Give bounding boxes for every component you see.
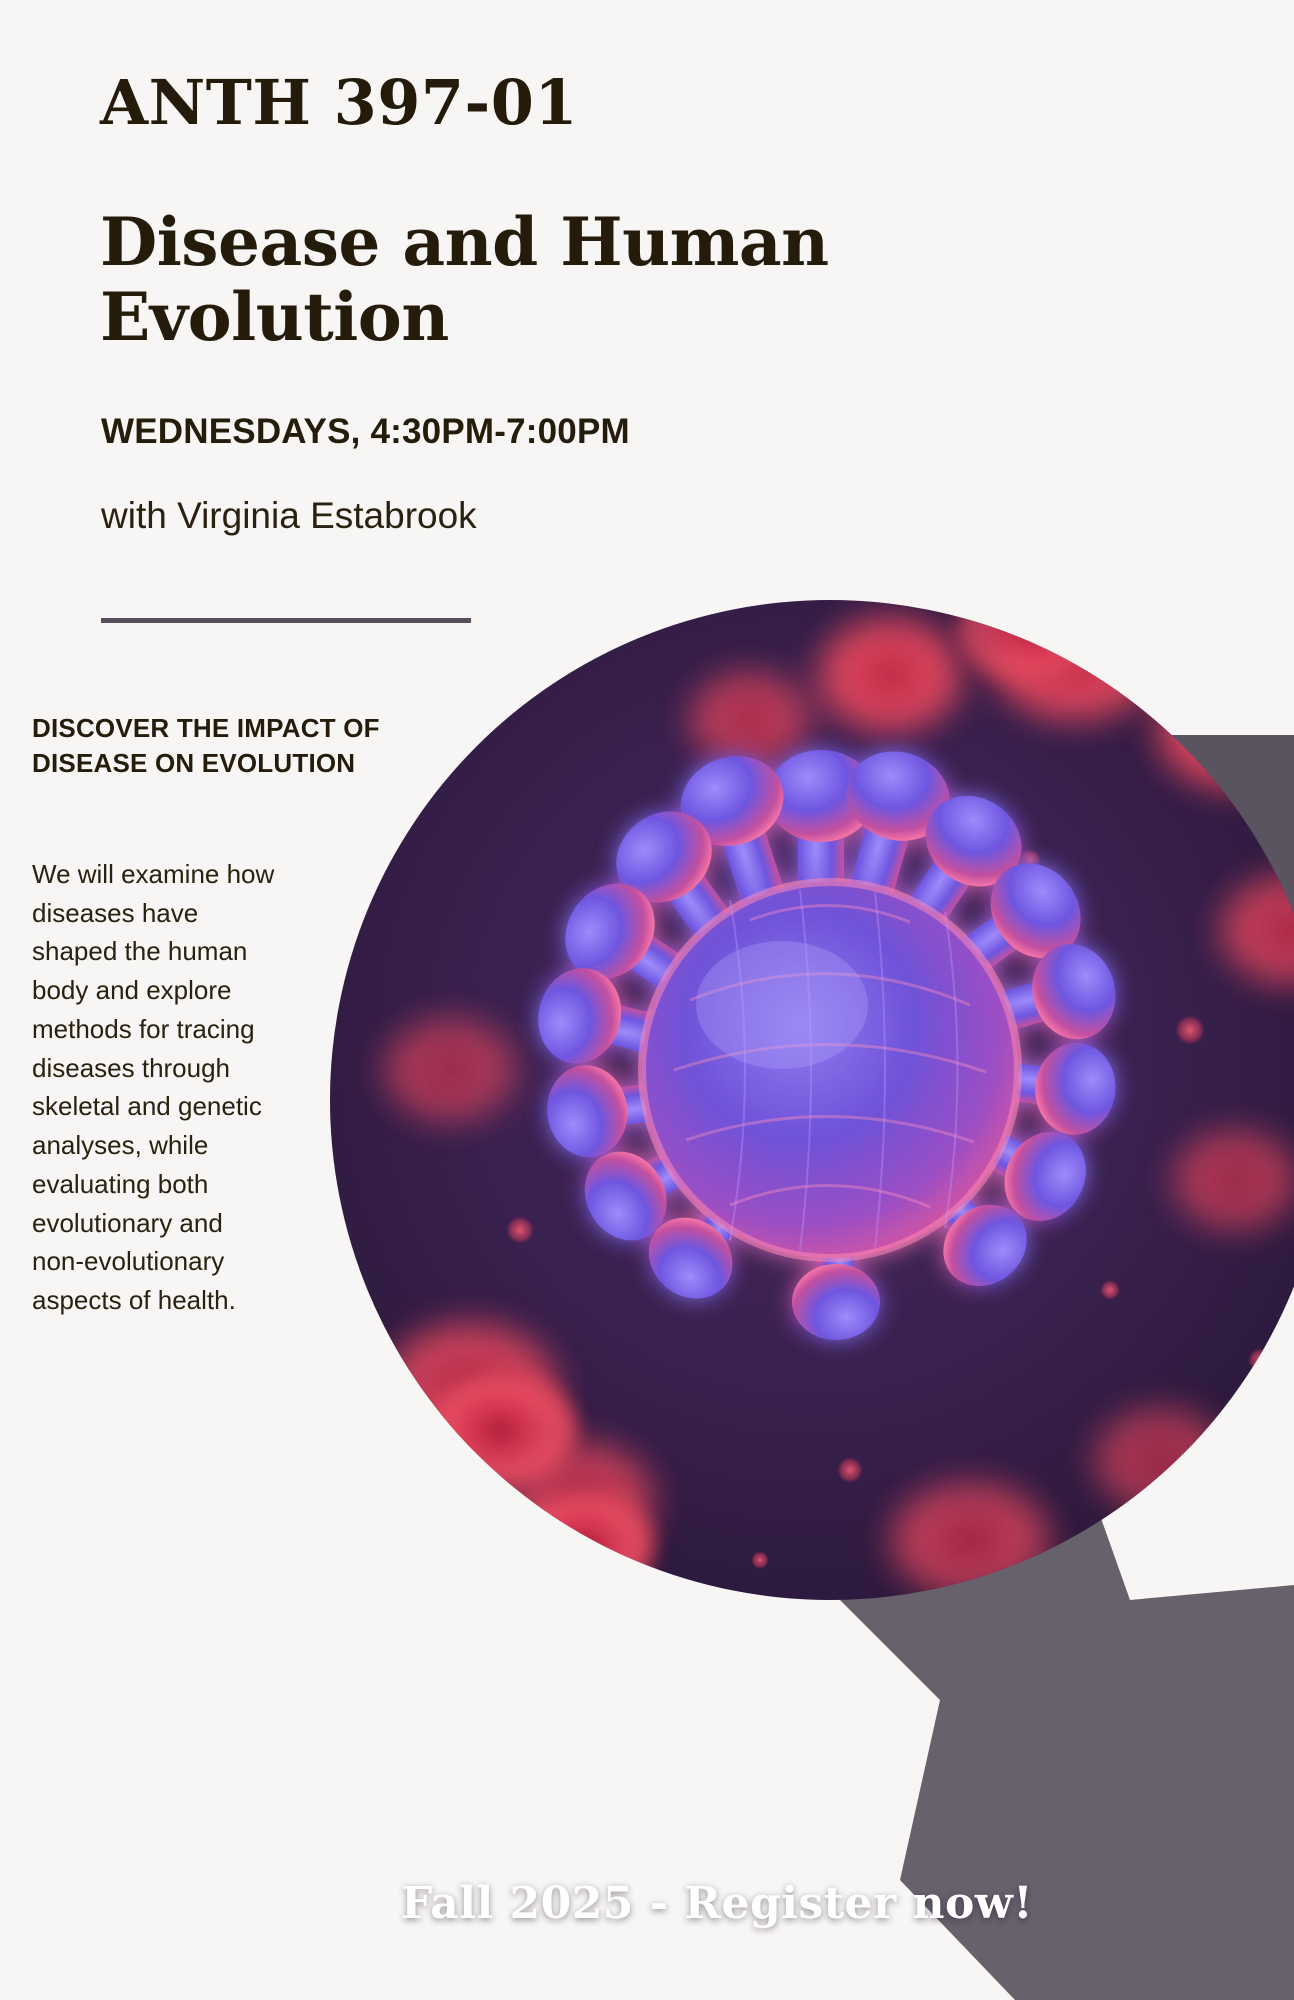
section-heading: DISCOVER THE IMPACT OF DISEASE ON EVOLUT… (32, 711, 502, 781)
course-poster: ANTH 397-01 Disease and Human Evolution … (0, 0, 1294, 2000)
instructor-text: with Virginia Estabrook (101, 495, 477, 537)
course-code: ANTH 397-01 (100, 70, 578, 135)
register-cta[interactable]: Fall 2025 - Register now! (0, 1878, 1294, 1929)
schedule-text: WEDNESDAYS, 4:30PM-7:00PM (101, 412, 630, 452)
body-copy: We will examine how diseases have shaped… (32, 855, 282, 1320)
divider-rule (101, 618, 471, 623)
course-title-line-2: Evolution (100, 280, 890, 355)
page-title: Disease and Human Evolution (100, 205, 890, 354)
section-heading-line-1: DISCOVER THE IMPACT OF (32, 711, 502, 746)
section-heading-line-2: DISEASE ON EVOLUTION (32, 746, 502, 781)
course-title-line-1: Disease and Human (100, 205, 890, 280)
